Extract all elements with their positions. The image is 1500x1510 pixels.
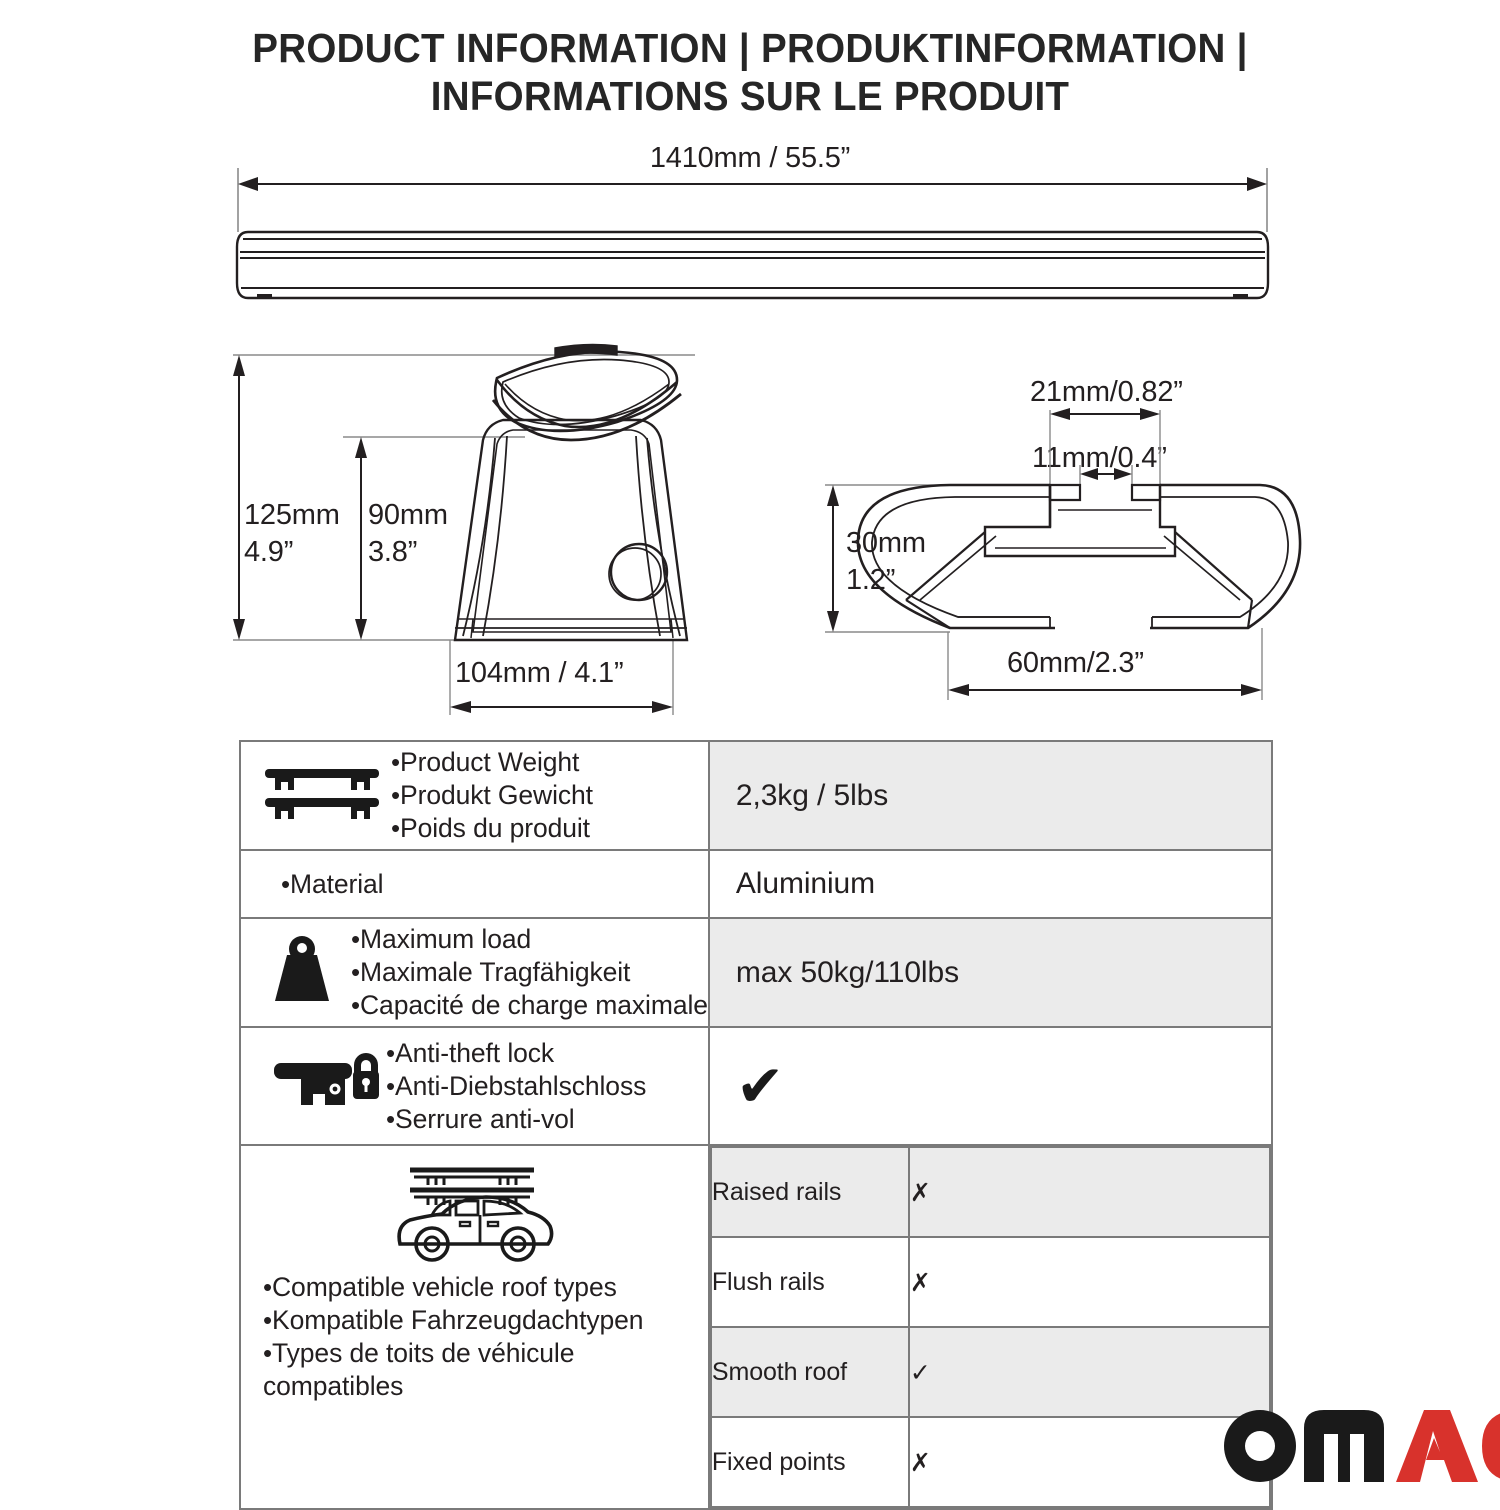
row-labels-max-load: •Maximum load •Maximale Tragfähigkeit •C… — [351, 919, 708, 1026]
roof-type-name: Raised rails — [711, 1147, 909, 1237]
label-line: Serrure anti-vol — [395, 1104, 575, 1134]
weight-icon — [241, 933, 351, 1012]
subtable-row: Flush rails ✗ — [711, 1237, 1270, 1327]
omac-logo-svg — [1218, 1408, 1500, 1484]
label-line: Maximum load — [360, 924, 531, 954]
bar-top-view-svg — [0, 0, 1500, 330]
label-line: Product Weight — [400, 747, 579, 777]
row-label-cell-roof-types: •Compatible vehicle roof types •Kompatib… — [240, 1145, 709, 1509]
subtable-row: Raised rails ✗ — [711, 1147, 1270, 1237]
row-labels-lock: •Anti-theft lock •Anti-Diebstahlschloss … — [386, 1033, 646, 1140]
subtable-row: Smooth roof ✓ — [711, 1327, 1270, 1417]
subtable-row: Fixed points ✗ — [711, 1417, 1270, 1507]
bar-cross-section-svg — [800, 360, 1320, 740]
roof-types-subtable: Raised rails ✗ Flush rails ✗ Smooth roof… — [710, 1146, 1271, 1508]
row-labels-roof-types: •Compatible vehicle roof types •Kompatib… — [241, 1269, 708, 1407]
roof-type-name: Flush rails — [711, 1237, 909, 1327]
value-anti-theft-lock-check: ✔ — [710, 1057, 1271, 1115]
label-line: Produkt Gewicht — [400, 780, 593, 810]
value-product-weight: 2,3kg / 5lbs — [710, 779, 1271, 813]
row-label-cell-weight: •Product Weight •Produkt Gewicht •Poids … — [240, 741, 709, 850]
label-line: Anti-Diebstahlschloss — [395, 1071, 646, 1101]
table-row: •Material Aluminium — [240, 850, 1272, 918]
row-labels-weight: •Product Weight •Produkt Gewicht •Poids … — [391, 742, 593, 849]
lock-icon — [241, 1049, 386, 1124]
roof-type-mark: ✗ — [909, 1417, 1270, 1507]
roof-type-name: Fixed points — [711, 1417, 909, 1507]
roof-types-subtable-cell: Raised rails ✗ Flush rails ✗ Smooth roof… — [709, 1145, 1272, 1509]
specifications-table: •Product Weight •Produkt Gewicht •Poids … — [239, 740, 1273, 1510]
table-row: •Anti-theft lock •Anti-Diebstahlschloss … — [240, 1027, 1272, 1145]
roof-type-mark: ✗ — [909, 1147, 1270, 1237]
technical-drawings: 1410mm / 55.5” 125mm 4.9” 90mm 3.8” 104m… — [0, 0, 1500, 740]
value-max-load: max 50kg/110lbs — [710, 956, 1271, 990]
car-with-crossbars-icon — [241, 1146, 708, 1269]
table-row: •Compatible vehicle roof types •Kompatib… — [240, 1145, 1272, 1509]
row-value-cell-max-load: max 50kg/110lbs — [709, 918, 1272, 1027]
row-label-cell-material: •Material — [240, 850, 709, 918]
crossbars-icon — [241, 762, 391, 829]
label-line: Material — [290, 869, 383, 899]
label-line: Maximale Tragfähigkeit — [360, 957, 630, 987]
table-row: •Maximum load •Maximale Tragfähigkeit •C… — [240, 918, 1272, 1027]
omac-logo-dark-part — [1224, 1410, 1384, 1482]
value-material: Aluminium — [710, 867, 1271, 901]
row-label-cell-max-load: •Maximum load •Maximale Tragfähigkeit •C… — [240, 918, 709, 1027]
label-line: Kompatible Fahrzeugdachtypen — [272, 1305, 643, 1335]
table-row: •Product Weight •Produkt Gewicht •Poids … — [240, 741, 1272, 850]
row-label-cell-lock: •Anti-theft lock •Anti-Diebstahlschloss … — [240, 1027, 709, 1145]
omac-logo-red-part — [1396, 1410, 1500, 1482]
roof-type-mark: ✗ — [909, 1237, 1270, 1327]
label-line: Capacité de charge maximale — [360, 990, 708, 1020]
row-value-cell-material: Aluminium — [709, 850, 1272, 918]
row-labels-material: •Material — [241, 864, 708, 905]
row-value-cell-weight: 2,3kg / 5lbs — [709, 741, 1272, 850]
label-line: Anti-theft lock — [395, 1038, 554, 1068]
label-line: Poids du produit — [400, 813, 590, 843]
roof-type-mark: ✓ — [909, 1327, 1270, 1417]
roof-type-name: Smooth roof — [711, 1327, 909, 1417]
omac-logo — [1218, 1408, 1500, 1484]
label-line: Types de toits de véhicule compatibles — [263, 1338, 574, 1401]
label-line: Compatible vehicle roof types — [272, 1272, 617, 1302]
row-value-cell-lock: ✔ — [709, 1027, 1272, 1145]
